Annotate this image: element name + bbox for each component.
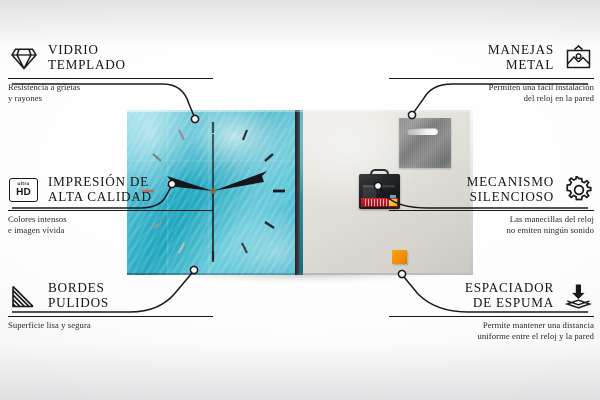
feature-header: MANEJAS METAL — [389, 40, 594, 76]
feature-title: IMPRESIÓN DE ALTA CALIDAD — [48, 175, 152, 206]
gear-icon — [563, 175, 594, 206]
feature-divider — [8, 316, 213, 317]
connector-marker-bordes-pulidos — [190, 266, 197, 273]
feature-header: MECANISMO SILENCIOSO — [389, 172, 594, 208]
hd-badge: ultra HD — [9, 178, 38, 202]
feature-description: Superficie lisa y segura — [8, 320, 213, 331]
feature-title: BORDES PULIDOS — [48, 281, 109, 312]
feature-impresion-alta-calidad: ultra HD IMPRESIÓN DE ALTA CALIDAD Color… — [8, 172, 213, 237]
picture-hanger-icon — [563, 43, 594, 74]
feature-header: ESPACIADOR DE ESPUMA — [389, 278, 594, 314]
connector-marker-mecanismo — [374, 182, 381, 189]
feature-description: Permite mantener una distancia uniforme … — [389, 320, 594, 343]
feature-title: VIDRIO TEMPLADO — [48, 43, 126, 74]
ultra-hd-icon: ultra HD — [8, 175, 39, 206]
feature-bordes-pulidos: BORDES PULIDOS Superficie lisa y segura — [8, 278, 213, 331]
feature-description: Las manecillas del reloj no emiten ningú… — [389, 214, 594, 237]
connector-marker-vidrio-templado — [191, 115, 198, 122]
feature-header: VIDRIO TEMPLADO — [8, 40, 213, 76]
feature-header: BORDES PULIDOS — [8, 278, 213, 314]
feature-divider — [8, 78, 213, 79]
connector-marker-espaciador — [398, 270, 405, 277]
feature-divider — [389, 78, 594, 79]
feature-espaciador-espuma: ESPACIADOR DE ESPUMA Permite mantener un… — [389, 278, 594, 343]
feature-manejas-metal: MANEJAS METAL Permiten una fácil instala… — [389, 40, 594, 105]
feature-title: MANEJAS METAL — [488, 43, 554, 74]
feature-description: Colores intensos e imagen vívida — [8, 214, 213, 237]
infographic-canvas: VIDRIO TEMPLADO Resistencia a grietas y … — [0, 0, 600, 400]
feature-header: ultra HD IMPRESIÓN DE ALTA CALIDAD — [8, 172, 213, 208]
feature-vidrio-templado: VIDRIO TEMPLADO Resistencia a grietas y … — [8, 40, 213, 105]
diamond-icon — [8, 43, 39, 74]
feature-description: Permiten una fácil instalación del reloj… — [389, 82, 594, 105]
feature-divider — [8, 210, 213, 211]
feature-title: ESPACIADOR DE ESPUMA — [465, 281, 554, 312]
polished-edge-icon — [8, 281, 39, 312]
foam-spacer-icon — [563, 281, 594, 312]
feature-mecanismo-silencioso: MECANISMO SILENCIOSO Las manecillas del … — [389, 172, 594, 237]
connector-marker-manejas-metal — [408, 111, 415, 118]
feature-description: Resistencia a grietas y rayones — [8, 82, 213, 105]
feature-title: MECANISMO SILENCIOSO — [467, 175, 554, 206]
hd-badge-hd-label: HD — [16, 188, 31, 198]
feature-divider — [389, 316, 594, 317]
feature-divider — [389, 210, 594, 211]
